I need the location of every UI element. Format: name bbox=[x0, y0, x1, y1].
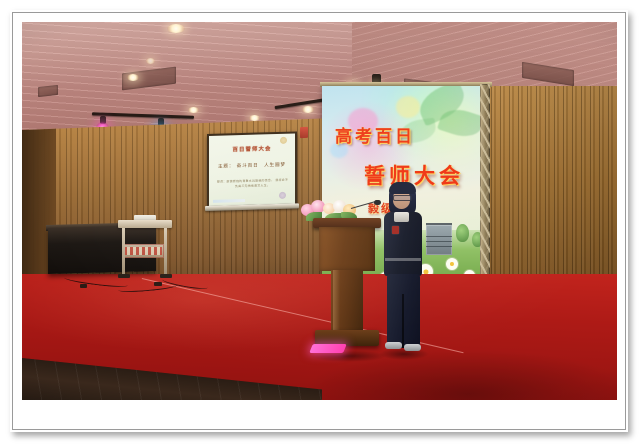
microphone-stem bbox=[351, 201, 376, 209]
cart-shelf-contents bbox=[124, 247, 162, 255]
banner-headline-primary: 高考百日 bbox=[335, 122, 415, 147]
banner-building-graphic bbox=[426, 223, 452, 255]
speaker-collar bbox=[394, 212, 409, 222]
banner-daisy-icon bbox=[446, 258, 458, 270]
banner-tree-graphic bbox=[456, 224, 469, 242]
downlight bbox=[302, 106, 314, 113]
speaker-shoe bbox=[404, 344, 421, 351]
downlight bbox=[146, 58, 155, 64]
student-speaker bbox=[379, 182, 427, 362]
projection-screen-surface: 百日誓师大会 主题： 奋斗百日 人生圆梦 誓词：激情燃烧的青春水远是我的信念， … bbox=[209, 134, 295, 206]
eyeglasses-icon bbox=[393, 195, 412, 201]
podium-lectern bbox=[315, 218, 379, 370]
cart-leg bbox=[164, 228, 167, 276]
jacket-stripe bbox=[385, 258, 421, 261]
cart-tabletop bbox=[118, 220, 172, 228]
auditorium-photo: 百日誓师大会 主题： 奋斗百日 人生圆梦 誓词：激情燃烧的青春水远是我的信念， … bbox=[22, 22, 617, 400]
speaker-shoe bbox=[385, 342, 402, 349]
school-badge-icon bbox=[392, 226, 399, 234]
downlight bbox=[127, 74, 139, 81]
projector-cart bbox=[118, 220, 172, 284]
microphone bbox=[351, 196, 381, 212]
cable-connector bbox=[80, 284, 87, 288]
podium-column-highlight bbox=[333, 270, 340, 332]
slide-title: 百日誓师大会 bbox=[209, 144, 295, 154]
banner-bokeh bbox=[396, 96, 420, 118]
slide-subtitle: 主题： 奋斗百日 人生圆梦 bbox=[209, 162, 295, 170]
ceiling-vent bbox=[38, 85, 58, 97]
speaker-fringe bbox=[389, 182, 416, 194]
cart-leg bbox=[122, 228, 125, 276]
downlight bbox=[188, 107, 199, 113]
slide-footer-bar bbox=[213, 199, 245, 203]
fire-sign-icon bbox=[300, 127, 308, 138]
podium-accent-light bbox=[309, 344, 347, 353]
cart-foot bbox=[160, 274, 172, 278]
projection-screen: 百日誓师大会 主题： 奋斗百日 人生圆梦 誓词：激情燃烧的青春水远是我的信念， … bbox=[207, 131, 297, 208]
slide-seal-icon bbox=[279, 192, 286, 199]
banner-truss-lattice bbox=[480, 84, 490, 290]
downlight bbox=[167, 24, 185, 33]
podium-front-panel bbox=[319, 227, 375, 271]
cart-foot bbox=[118, 274, 130, 278]
slide-body-text: 誓词：激情燃烧的青春水远是我的信念， 我将会不负高三无悔地谱写人生。 bbox=[216, 178, 289, 189]
trouser-seam bbox=[402, 294, 404, 348]
